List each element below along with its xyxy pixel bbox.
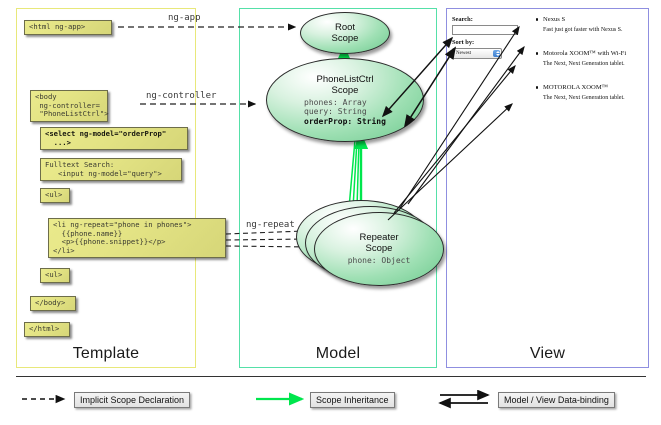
code-box-li-repeat[interactable]: <li ng-repeat="phone in phones"> {{phone… [48, 218, 226, 258]
panel-view-title: View [447, 345, 648, 363]
scope-phonelistctrl-properties: phones: Array query: String orderProp: S… [304, 98, 386, 126]
scope-repeater-title: Repeater Scope [359, 232, 398, 254]
sort-label: Sort by: [452, 39, 474, 46]
legend-item-model-view-data-binding: Model / View Data-binding [498, 392, 615, 408]
legend-divider [16, 376, 646, 377]
chevron-updown-icon [493, 50, 500, 57]
code-box-ul-close[interactable]: <ul> [40, 268, 70, 283]
legend: Implicit Scope Declaration Scope Inherit… [16, 376, 646, 420]
code-box-select-tag[interactable]: <select ng-model="orderProp" ...> [40, 127, 188, 150]
code-box-body-open[interactable]: <body ng-controller= "PhoneListCtrl"> [30, 90, 108, 122]
diagram-canvas: Template <html ng-app> <body ng-controll… [0, 0, 661, 425]
connector-label-ng-repeat: ng-repeat [246, 220, 295, 230]
bullet-icon [536, 86, 538, 88]
scope-root-title-line1: Root [335, 22, 355, 33]
phone-snippet: Fast just got faster with Nexus S. [543, 27, 623, 33]
scope-phonelistctrl[interactable]: PhoneListCtrl Scope phones: Array query:… [266, 58, 424, 142]
panel-template-title: Template [17, 345, 195, 363]
bullet-icon [536, 18, 538, 20]
sort-select-value: Newest [456, 51, 471, 56]
phone-snippet: The Next, Next Generation tablet. [543, 95, 625, 101]
panel-model-title: Model [240, 345, 436, 363]
scope-phonelistctrl-title-line2: Scope [332, 85, 359, 96]
code-box-body-close[interactable]: </body> [30, 296, 76, 311]
phone-name: Motorola XOOM™ with Wi-Fi [543, 50, 626, 57]
scope-phonelistctrl-title-line1: PhoneListCtrl [316, 74, 373, 85]
bullet-icon [536, 52, 538, 54]
scope-repeater-properties: phone: Object [348, 256, 411, 265]
phone-snippet: The Next, Next Generation tablet. [543, 61, 625, 67]
phone-name: MOTOROLA XOOM™ [543, 84, 608, 91]
scope-repeater[interactable]: Repeater Scope phone: Object [314, 212, 444, 286]
sort-select[interactable]: Newest [452, 48, 502, 59]
scope-property-orderprop: orderProp: String [304, 117, 386, 126]
code-box-html-open[interactable]: <html ng-app> [24, 20, 112, 35]
search-input[interactable] [452, 25, 518, 35]
legend-item-implicit-scope-declaration: Implicit Scope Declaration [74, 392, 190, 408]
scope-repeater-title-line1: Repeater [359, 232, 398, 243]
legend-item-scope-inheritance: Scope Inheritance [310, 392, 395, 408]
code-box-html-close[interactable]: </html> [24, 322, 70, 337]
scope-property-phone: phone: Object [348, 256, 411, 265]
code-box-ul-open[interactable]: <ul> [40, 188, 70, 203]
scope-repeater-title-line2: Scope [366, 243, 393, 254]
scope-phonelistctrl-title: PhoneListCtrl Scope [316, 74, 373, 96]
code-box-search-input[interactable]: Fulltext Search: <input ng-model="query"… [40, 158, 182, 181]
connector-label-ng-app: ng-app [168, 13, 201, 23]
scope-root[interactable]: Root Scope [300, 12, 390, 54]
scope-root-title-line2: Scope [332, 33, 359, 44]
scope-root-title: Root Scope [332, 22, 359, 44]
scope-property-phones: phones: Array [304, 98, 386, 107]
view-browser-mock: Search: Sort by: Newest Nexus S Fast jus… [452, 14, 644, 122]
search-label: Search: [452, 16, 473, 23]
scope-property-query: query: String [304, 107, 386, 116]
connector-label-ng-controller: ng-controller [146, 91, 216, 101]
phone-name: Nexus S [543, 16, 565, 23]
